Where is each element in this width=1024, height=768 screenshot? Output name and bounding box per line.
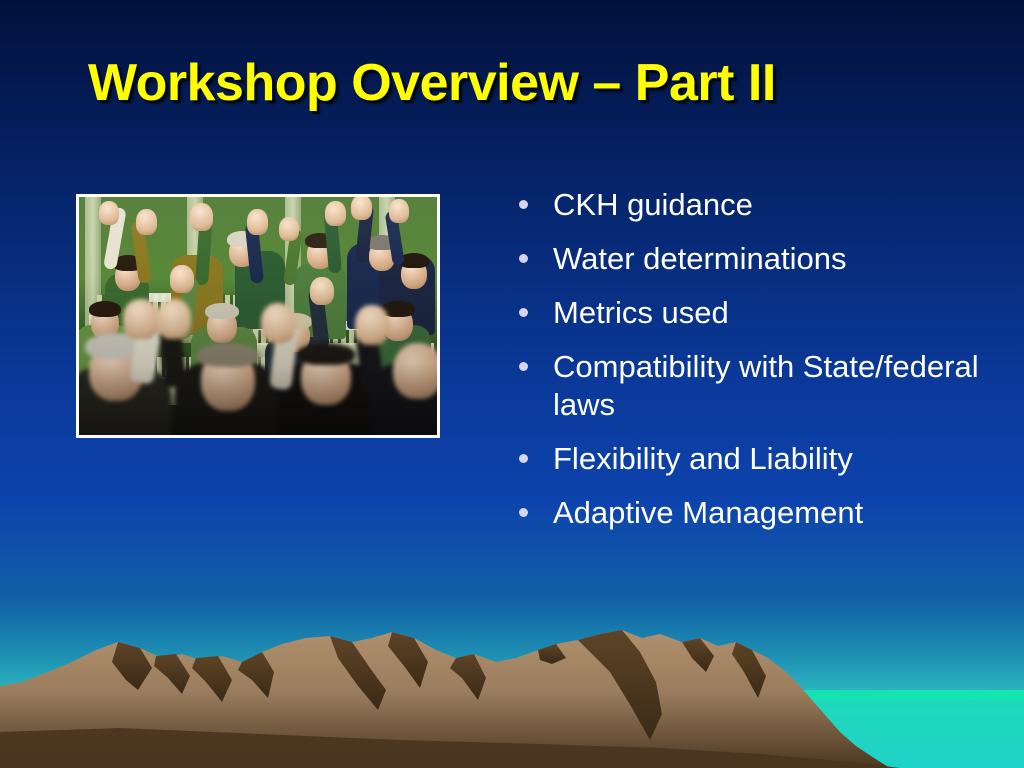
list-item-label: Compatibility with State/federal laws [553,349,979,422]
bullet-dot-icon [519,200,528,209]
list-item-label: Adaptive Management [553,495,863,530]
mountain-range-graphic [0,628,1024,768]
list-item: CKH guidance [505,186,995,224]
bullet-dot-icon [519,254,528,263]
list-item: Flexibility and Liability [505,440,995,478]
list-item-label: CKH guidance [553,187,753,222]
list-item: Water determinations [505,240,995,278]
crowd-raising-hands-photo [79,197,437,435]
bullet-dot-icon [519,362,528,371]
bullet-dot-icon [519,454,528,463]
photo-frame [76,194,440,438]
list-item: Compatibility with State/federal laws [505,348,995,424]
bullet-dot-icon [519,508,528,517]
list-item-label: Metrics used [553,295,729,330]
page-title: Workshop Overview – Part II [88,52,968,114]
list-item-label: Flexibility and Liability [553,441,853,476]
photo-vignette [79,197,437,435]
list-item: Metrics used [505,294,995,332]
bullet-dot-icon [519,308,528,317]
list-item-label: Water determinations [553,241,846,276]
bullet-list: CKH guidance Water determinations Metric… [505,186,995,548]
slide-canvas: Workshop Overview – Part II [0,0,1024,768]
list-item: Adaptive Management [505,494,995,532]
